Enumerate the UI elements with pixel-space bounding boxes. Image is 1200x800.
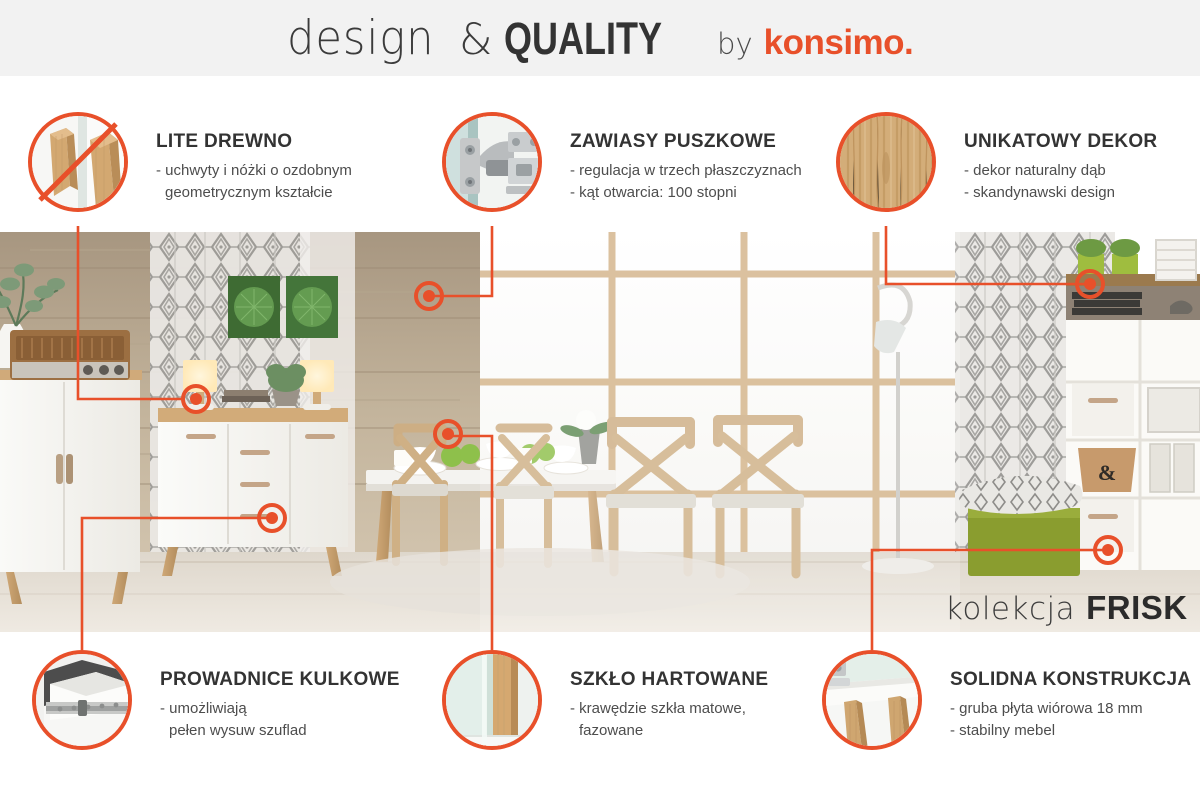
page-header: design & QUALITY by konsimo. xyxy=(0,0,1200,76)
callout-title: PROWADNICE KULKOWE xyxy=(160,670,490,691)
header-ampersand: & xyxy=(459,15,493,65)
callout-text-block: LITE DREWNO - uchwyty i nóżki o ozdobnym… xyxy=(156,132,486,203)
collection-word: kolekcja xyxy=(945,591,1075,627)
header-logo-lockup: design & QUALITY by konsimo. xyxy=(287,11,914,66)
callout-line: - umożliwiają xyxy=(160,698,490,720)
infographic-root: design & QUALITY by konsimo. xyxy=(0,0,1200,800)
interior-photo: & xyxy=(0,232,1200,632)
callout-text-block: SOLIDNA KONSTRUKCJA - gruba płyta wiórow… xyxy=(950,670,1200,741)
ball-bearing-slide-icon xyxy=(32,650,132,750)
header-word-quality: QUALITY xyxy=(504,13,662,65)
brand-name-konsimo: konsimo. xyxy=(764,23,914,63)
solid-wood-legs-icon xyxy=(28,112,128,212)
collection-label: kolekcja FRISK xyxy=(945,589,1188,627)
cup-hinge-icon xyxy=(442,112,542,212)
collection-name: FRISK xyxy=(1086,589,1188,627)
callout-title: UNIKATOWY DEKOR xyxy=(964,132,1200,153)
callout-title: SOLIDNA KONSTRUKCJA xyxy=(950,670,1200,691)
chipboard-leg-icon xyxy=(822,650,922,750)
callout-text-block: UNIKATOWY DEKOR - dekor naturalny dąb - … xyxy=(964,132,1200,203)
callout-line: - dekor naturalny dąb xyxy=(964,160,1200,182)
header-word-design: design xyxy=(287,11,434,66)
callout-title: LITE DREWNO xyxy=(156,132,486,153)
svg-text:&: & xyxy=(1098,460,1116,485)
header-word-by: by xyxy=(717,27,753,61)
oak-wood-grain-icon xyxy=(836,112,936,212)
callout-line: geometrycznym kształcie xyxy=(156,182,486,204)
callout-line: pełen wysuw szuflad xyxy=(160,720,490,742)
callout-line: - skandynawski design xyxy=(964,182,1200,204)
callout-text-block: PROWADNICE KULKOWE - umożliwiają pełen w… xyxy=(160,670,490,741)
tempered-glass-icon xyxy=(442,650,542,750)
callout-line: - gruba płyta wiórowa 18 mm xyxy=(950,698,1200,720)
callout-line: - stabilny mebel xyxy=(950,720,1200,742)
callout-line: - uchwyty i nóżki o ozdobnym xyxy=(156,160,486,182)
